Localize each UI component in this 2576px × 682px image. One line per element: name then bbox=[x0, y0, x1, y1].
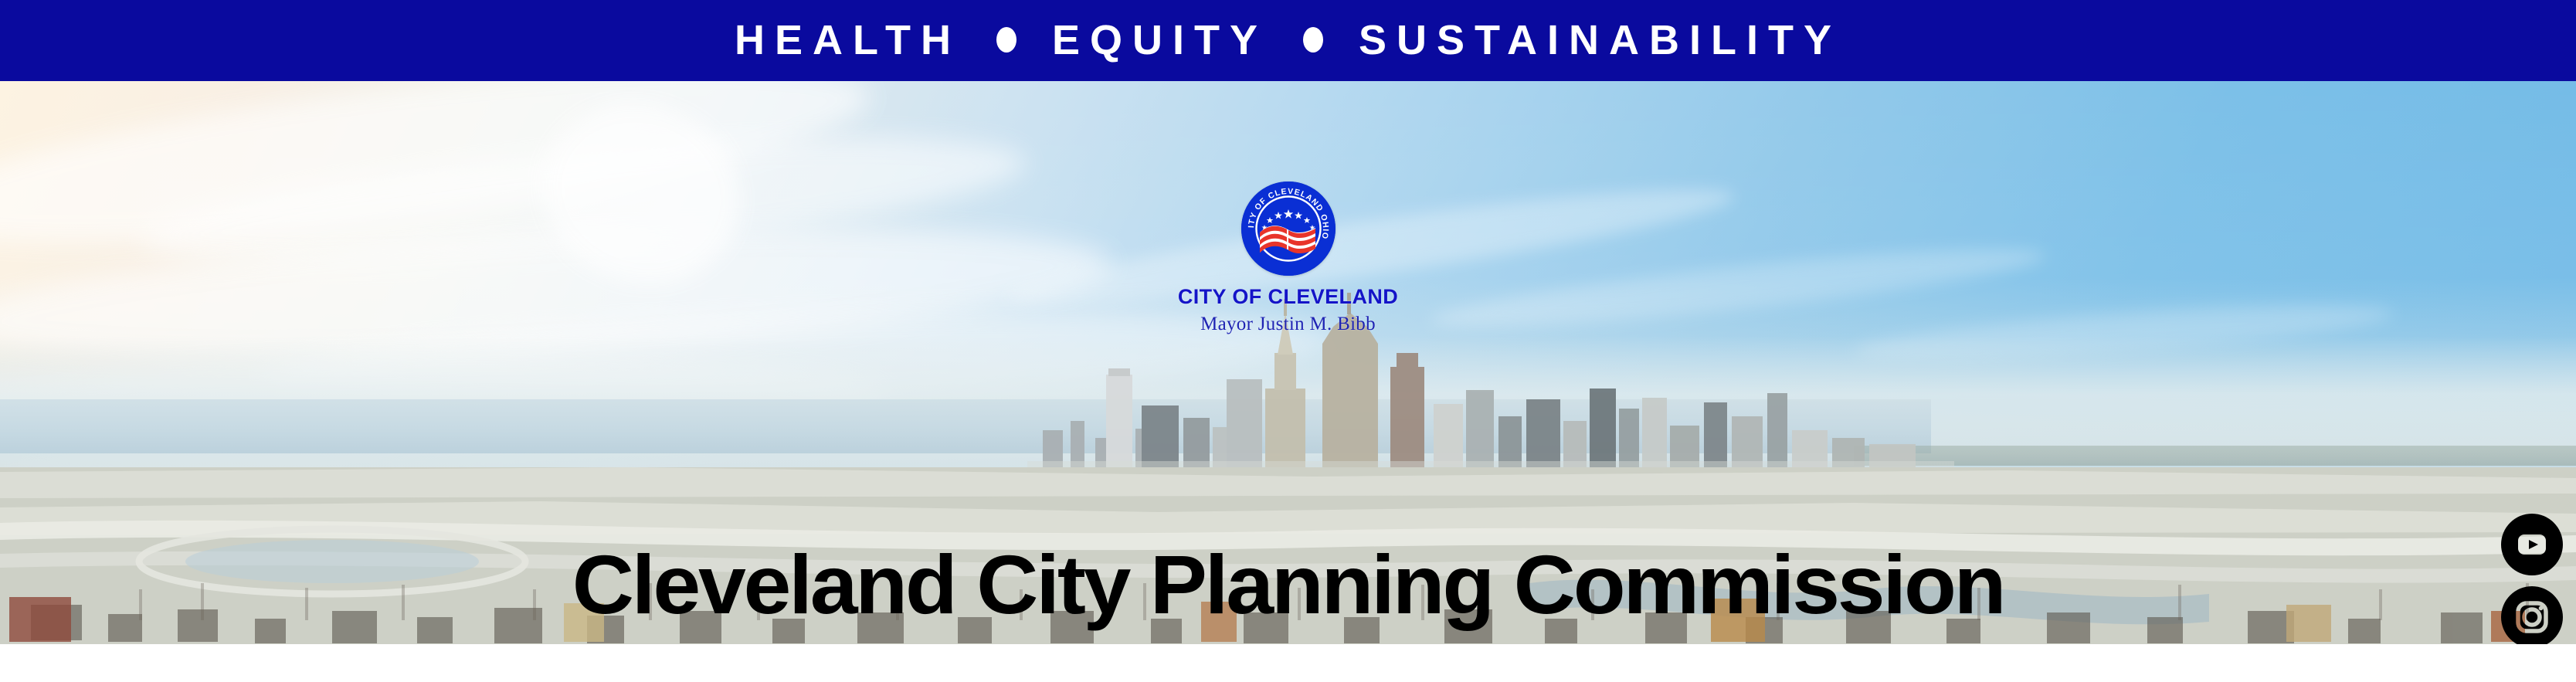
city-name-label: CITY OF CLEVELAND bbox=[1178, 287, 1398, 307]
tagline-inner: HEALTH EQUITY SUSTAINABILITY bbox=[735, 19, 1841, 61]
city-seal-block: CITY OF CLEVELAND OHIO bbox=[0, 182, 2576, 334]
tagline-word-sustainability: SUSTAINABILITY bbox=[1359, 19, 1841, 61]
youtube-icon[interactable] bbox=[2501, 514, 2563, 575]
page-title: Cleveland City Planning Commission bbox=[0, 543, 2576, 626]
instagram-icon[interactable] bbox=[2501, 586, 2563, 644]
tagline-banner: HEALTH EQUITY SUSTAINABILITY bbox=[0, 0, 2576, 81]
banner-page: HEALTH EQUITY SUSTAINABILITY bbox=[0, 0, 2576, 682]
bullet-dot-icon bbox=[1303, 27, 1323, 53]
hero-photo: CITY OF CLEVELAND OHIO bbox=[0, 81, 2576, 644]
tagline-word-health: HEALTH bbox=[735, 19, 961, 61]
mayor-name-label: Mayor Justin M. Bibb bbox=[1200, 314, 1376, 334]
tagline-word-equity: EQUITY bbox=[1052, 19, 1268, 61]
bullet-dot-icon bbox=[996, 27, 1016, 53]
social-links-rail bbox=[2499, 514, 2565, 644]
city-of-cleveland-seal-icon: CITY OF CLEVELAND OHIO bbox=[1241, 182, 1336, 276]
bottom-white-strip bbox=[0, 644, 2576, 682]
